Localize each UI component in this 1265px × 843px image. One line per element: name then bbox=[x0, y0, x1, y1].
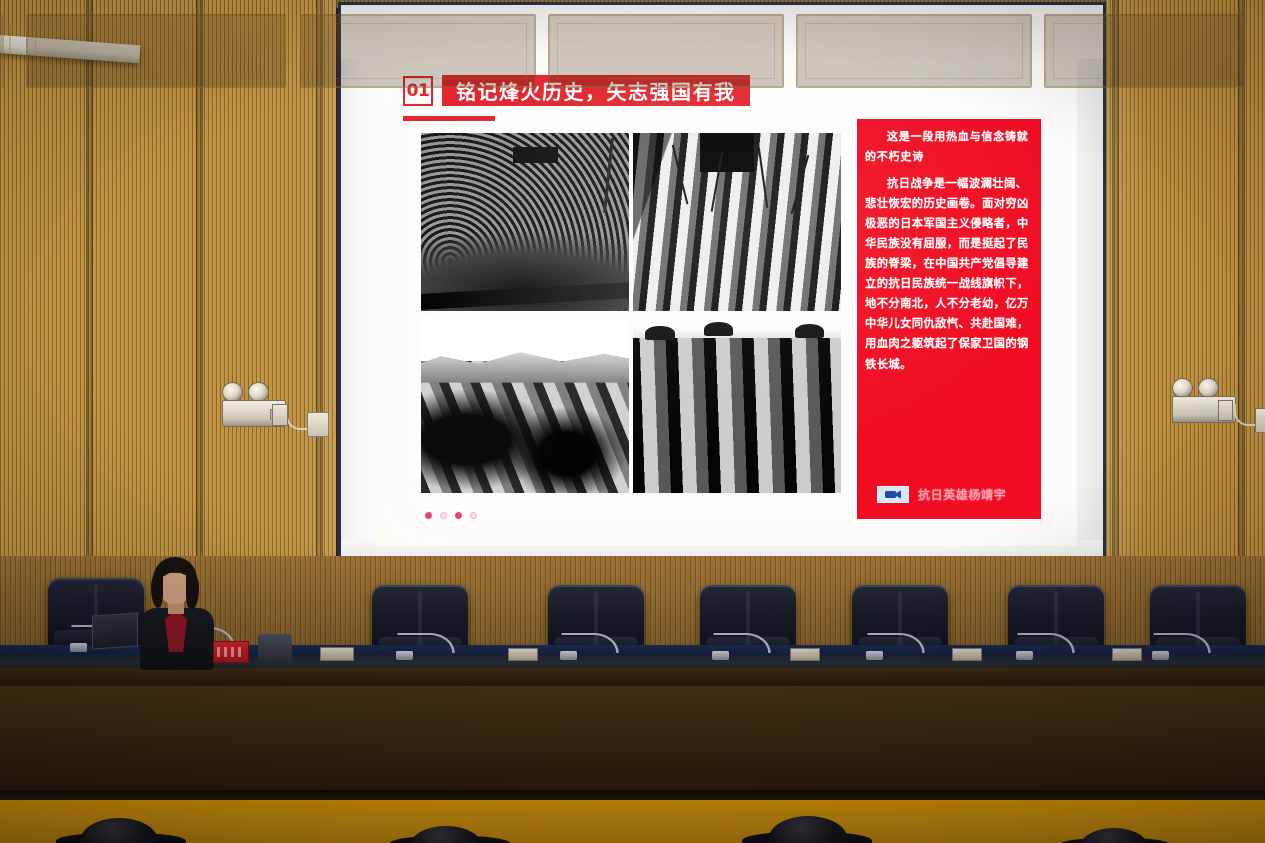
photo-hat-shape bbox=[645, 326, 674, 340]
pagination-dot[interactable] bbox=[440, 512, 447, 519]
slide-accent-bar bbox=[403, 116, 495, 121]
name-card bbox=[508, 648, 538, 661]
video-caption-row[interactable]: 抗日英雄杨靖宇 bbox=[877, 486, 1006, 503]
mic-base bbox=[1016, 651, 1033, 660]
nameplate-text-glyph bbox=[217, 647, 245, 657]
name-card bbox=[320, 647, 354, 661]
presenter-hair bbox=[151, 574, 163, 608]
mic-base bbox=[560, 651, 577, 660]
wall-outlet-box bbox=[307, 412, 329, 437]
wall-seam-1 bbox=[86, 0, 93, 600]
microphone bbox=[1016, 634, 1078, 660]
lamp-head-icon bbox=[248, 382, 269, 402]
wall-switch-plate-left bbox=[272, 404, 288, 426]
microphone bbox=[712, 634, 774, 660]
mic-base bbox=[396, 651, 413, 660]
table-front-panel bbox=[300, 14, 536, 88]
wall-seam-2 bbox=[196, 0, 203, 600]
video-play-icon[interactable] bbox=[877, 486, 909, 503]
historical-photo-grid bbox=[421, 133, 841, 503]
screen-right-margin bbox=[1073, 5, 1103, 574]
emergency-lamp-heads bbox=[1172, 378, 1236, 398]
photo-content bbox=[633, 315, 841, 493]
presentation-slide: 01 铭记烽火历史，矢志强国有我 bbox=[377, 59, 1077, 546]
microphone bbox=[560, 634, 622, 660]
name-card bbox=[952, 648, 982, 661]
photo-pagination-dots[interactable] bbox=[425, 512, 477, 519]
screen-left-margin bbox=[341, 5, 379, 574]
mic-gooseneck bbox=[397, 633, 455, 653]
photo-soldiers-group bbox=[633, 315, 841, 493]
mic-gooseneck bbox=[561, 633, 619, 653]
pagination-dot[interactable] bbox=[455, 512, 462, 519]
mic-gooseneck bbox=[1017, 633, 1075, 653]
photo-hat-shape bbox=[795, 324, 824, 338]
microphone bbox=[1152, 634, 1214, 660]
wall-seam-5 bbox=[1238, 0, 1245, 600]
laptop bbox=[92, 612, 138, 649]
pagination-dot[interactable] bbox=[425, 512, 432, 519]
desk-bag bbox=[258, 634, 292, 662]
video-caption-text: 抗日英雄杨靖宇 bbox=[918, 486, 1006, 503]
table-front-panel bbox=[1044, 14, 1244, 88]
photo-mountain-battle bbox=[421, 315, 629, 493]
mic-base bbox=[1152, 651, 1169, 660]
photo-banner-shape bbox=[513, 147, 559, 163]
name-card bbox=[790, 648, 820, 661]
wall-panel-left bbox=[0, 0, 336, 600]
red-panel-body: 抗日战争是一幅波澜壮阔、悲壮恢宏的历史画卷。面对穷凶极恶的日本军国主义侵略者，中… bbox=[865, 174, 1033, 375]
stage-wood-floor bbox=[0, 800, 1265, 843]
photo-hat-shape bbox=[704, 322, 733, 336]
photo-crowd-rally bbox=[421, 133, 629, 311]
wall-seam-3 bbox=[316, 0, 323, 600]
lamp-head-icon bbox=[222, 382, 243, 402]
table-front-panel bbox=[26, 14, 286, 88]
table-front-panel bbox=[548, 14, 784, 88]
microphone bbox=[396, 634, 458, 660]
mic-base bbox=[70, 643, 87, 652]
mic-base bbox=[866, 651, 883, 660]
lamp-head-icon bbox=[1198, 378, 1219, 398]
red-text-panel: 这是一段用热血与信念铸就的不朽史诗 抗日战争是一幅波澜壮阔、悲壮恢宏的历史画卷。… bbox=[857, 119, 1041, 519]
name-card bbox=[1112, 648, 1142, 661]
red-nameplate bbox=[213, 641, 249, 663]
lecture-hall-scene: 01 铭记烽火历史，矢志强国有我 bbox=[0, 0, 1265, 843]
conference-table-front bbox=[0, 686, 1265, 804]
lamp-head-icon bbox=[1172, 378, 1193, 398]
mic-base bbox=[712, 651, 729, 660]
photo-shadow-shape bbox=[700, 133, 754, 172]
mic-gooseneck bbox=[867, 633, 925, 653]
mic-gooseneck bbox=[1153, 633, 1211, 653]
mic-gooseneck bbox=[713, 633, 771, 653]
pagination-dot[interactable] bbox=[470, 512, 477, 519]
red-panel-heading: 这是一段用热血与信念铸就的不朽史诗 bbox=[865, 127, 1033, 168]
table-front-panel bbox=[796, 14, 1032, 88]
photo-marching-troops bbox=[633, 133, 841, 311]
wall-seam-4 bbox=[1112, 0, 1119, 600]
wall-outlet-box bbox=[1255, 408, 1265, 433]
microphone bbox=[866, 634, 928, 660]
wall-switch-plate-right bbox=[1218, 400, 1233, 421]
emergency-lamp-heads bbox=[222, 382, 286, 402]
